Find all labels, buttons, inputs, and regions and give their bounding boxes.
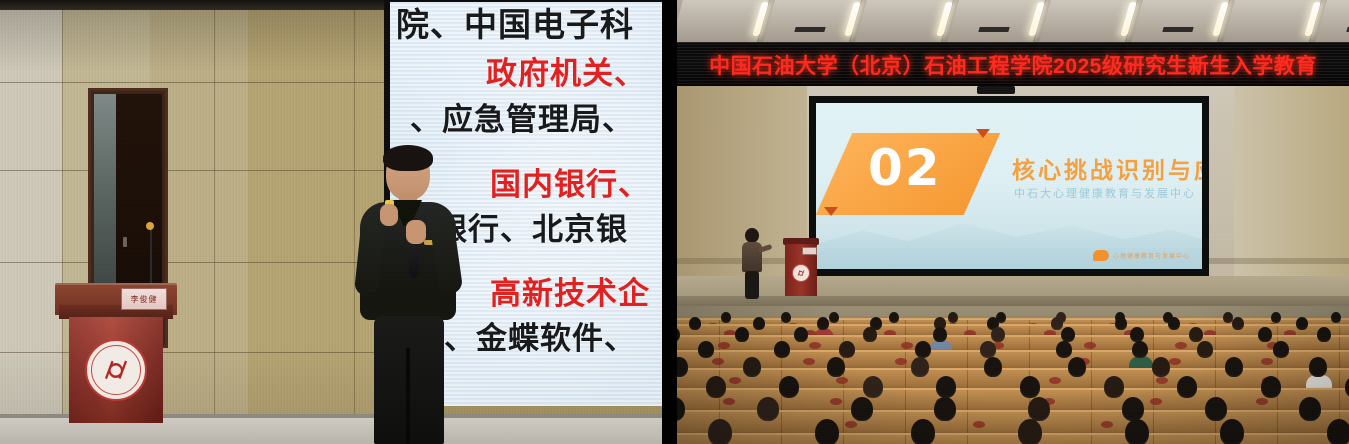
audience-member-head — [743, 357, 761, 377]
projector-mount — [977, 86, 1015, 94]
audience-member-head — [1317, 327, 1331, 342]
audience-member-head — [1132, 341, 1148, 358]
seat-emblem-icon — [1101, 421, 1113, 428]
audience-member-head — [1331, 312, 1341, 323]
photo-composite: 院、中国电子科 政府机关、 、应急管理局、 国内银行、 蓄银行、北京银 高新技术… — [0, 0, 1349, 444]
seat-emblem-icon — [723, 398, 735, 405]
led-banner: 中国石油大学（北京）石油工程学院2025级研究生新生入学教育 — [677, 42, 1349, 87]
seat-emblem-icon — [895, 358, 907, 365]
slide-footer-logo: 心理健康教育与发展中心 — [1093, 250, 1190, 261]
seat-row — [677, 368, 1349, 389]
presentation-slide: 02 核心挑战识别与应对 中石大心理健康教育与发展中心 心理健康教育与发展中心 — [816, 103, 1202, 269]
slide-line: 、应急管理局、 — [410, 94, 634, 139]
audience-member-head — [1051, 317, 1063, 330]
projection-screen: 02 核心挑战识别与应对 中石大心理健康教育与发展中心 心理健康教育与发展中心 — [809, 96, 1209, 276]
audience-member-head — [851, 397, 873, 421]
slide-footer-logo-text: 心理健康教育与发展中心 — [1113, 251, 1190, 260]
audience-member-head — [863, 376, 883, 398]
audience-member-head — [1068, 357, 1086, 377]
audience-member-head — [1261, 376, 1281, 398]
audience-member-head — [915, 341, 931, 358]
audience-member-head — [1061, 327, 1075, 342]
audience-member-head — [706, 376, 726, 398]
seat-emblem-icon — [1261, 358, 1273, 365]
slide-line-heading: 国内银行、 — [490, 159, 650, 204]
audience-member-head — [774, 341, 790, 358]
seat-emblem-icon — [1256, 398, 1268, 405]
audience-member-head — [948, 312, 958, 323]
presenter-left-hand — [380, 204, 398, 226]
seat-emblem-icon — [836, 377, 848, 384]
seat-emblem-icon — [718, 342, 730, 349]
stage-presenter-head — [745, 228, 759, 243]
seat-emblem-icon — [973, 421, 985, 428]
seat-emblem-icon — [803, 358, 815, 365]
seat-emblem-icon — [1049, 377, 1061, 384]
audience-member-head — [1177, 376, 1197, 398]
nameplate: 李俊健 — [121, 288, 167, 310]
audience-member-head — [1271, 312, 1281, 323]
stage-podium-emblem-icon: ⌭ — [792, 264, 810, 282]
audience-member-head — [827, 357, 845, 377]
audience-member-head — [689, 317, 701, 330]
audience-member-head — [1232, 317, 1244, 330]
audience-member-head — [936, 376, 956, 398]
podium: ⌭ 李俊健 — [55, 283, 177, 423]
audience-member-head — [794, 327, 808, 342]
microphone-icon — [146, 222, 154, 230]
slide-line: 院、中国电子科 — [396, 0, 634, 46]
right-photo-panel: 中国石油大学（北京）石油工程学院2025级研究生新生入学教育 02 核心挑战识别… — [677, 0, 1349, 444]
ceiling-vent — [794, 27, 825, 32]
audience-member-head — [933, 327, 947, 342]
stage-presenter-legs — [745, 271, 759, 299]
slide-title: 核心挑战识别与应对 — [1012, 151, 1209, 185]
audience-member-head — [1189, 327, 1203, 342]
audience-member-head — [984, 357, 1002, 377]
audience-member-head — [911, 419, 935, 444]
slide-section-number: 02 — [868, 143, 942, 193]
audience-member-head — [829, 312, 839, 323]
ceiling-vent — [1162, 27, 1193, 32]
stage-podium-nameplate — [802, 247, 817, 255]
audience-member-head — [1309, 357, 1327, 377]
audience-member-head — [1258, 327, 1272, 342]
audience-member-head — [1205, 397, 1227, 421]
slide-line-heading: 政府机关、 — [486, 48, 646, 93]
microphone-stand — [150, 226, 152, 286]
audience-member-head — [1115, 317, 1127, 330]
slide-corner-marker — [976, 129, 990, 138]
left-photo-panel: 院、中国电子科 政府机关、 、应急管理局、 国内银行、 蓄银行、北京银 高新技术… — [0, 0, 662, 444]
audience-member-head — [1220, 419, 1244, 444]
audience-member-head — [934, 397, 956, 421]
audience-member-head — [1225, 357, 1243, 377]
seat-row — [677, 433, 1349, 444]
audience-member-head — [1056, 341, 1072, 358]
seat-emblem-icon — [809, 342, 821, 349]
audience-member-head — [863, 327, 877, 342]
nameplate-text: 李俊健 — [131, 294, 158, 305]
slide-subtitle: 中石大心理健康教育与发展中心 — [1014, 185, 1196, 201]
audience-member-head — [753, 317, 765, 330]
audience-member-head — [1327, 419, 1349, 444]
audience-member-head — [1197, 341, 1213, 358]
audience-member-head — [1020, 376, 1040, 398]
seat-emblem-icon — [1169, 358, 1181, 365]
led-banner-text: 中国石油大学（北京）石油工程学院2025级研究生新生入学教育 — [709, 50, 1317, 80]
stage-presenter-figure — [739, 228, 765, 298]
seat-emblem-icon — [830, 398, 842, 405]
presenter-hair — [383, 145, 433, 171]
audience-member-head — [1273, 341, 1289, 358]
seat-emblem-icon — [1156, 377, 1168, 384]
audience-member-head — [1152, 357, 1170, 377]
stage-podium: ⌭ — [785, 238, 817, 296]
audience-member-head — [779, 376, 799, 398]
audience-member-head — [839, 341, 855, 358]
seat-emblem-icon — [729, 377, 741, 384]
seat-emblem-icon — [845, 421, 857, 428]
slide-line-heading: 高新技术企 — [490, 268, 650, 313]
audience-member-head — [980, 341, 996, 358]
audience-member-head — [1122, 397, 1144, 421]
seat-emblem-icon — [712, 358, 724, 365]
audience-member-head — [1125, 419, 1149, 444]
audience-member-head — [757, 397, 779, 421]
audience-member-head — [735, 327, 749, 342]
audience-member-head — [815, 419, 839, 444]
slide-corner-marker — [824, 207, 838, 216]
audience-member-head — [1130, 327, 1144, 342]
audience-member-head — [1028, 397, 1050, 421]
presenter-figure — [352, 148, 462, 444]
presenter-leg-split — [406, 348, 410, 444]
seat-emblem-icon — [1175, 342, 1187, 349]
audience-member-head — [911, 357, 929, 377]
audience-member-head — [1168, 317, 1180, 330]
center-logo-icon — [1093, 250, 1109, 261]
audience-member-head — [991, 327, 1005, 342]
seat-emblem-icon — [1150, 398, 1162, 405]
audience-member-head — [817, 317, 829, 330]
audience-area — [677, 306, 1349, 444]
photo-divider — [662, 0, 677, 444]
audience-member-head — [781, 312, 791, 323]
audience-member-head — [1104, 376, 1124, 398]
audience-member-head — [708, 419, 732, 444]
emblem-ring — [91, 345, 141, 395]
audience-member-head — [1018, 419, 1042, 444]
university-emblem-icon: ⌭ — [85, 339, 147, 401]
audience-member-head — [721, 312, 731, 323]
ceiling-vent — [978, 27, 1009, 32]
presenter-right-hand — [406, 220, 426, 244]
audience-member-head — [698, 341, 714, 358]
audience-member-head — [1296, 317, 1308, 330]
seat-emblem-icon — [1084, 342, 1096, 349]
audience-member-head — [1299, 397, 1321, 421]
seat-emblem-icon — [901, 342, 913, 349]
audience-member-head — [889, 312, 899, 323]
